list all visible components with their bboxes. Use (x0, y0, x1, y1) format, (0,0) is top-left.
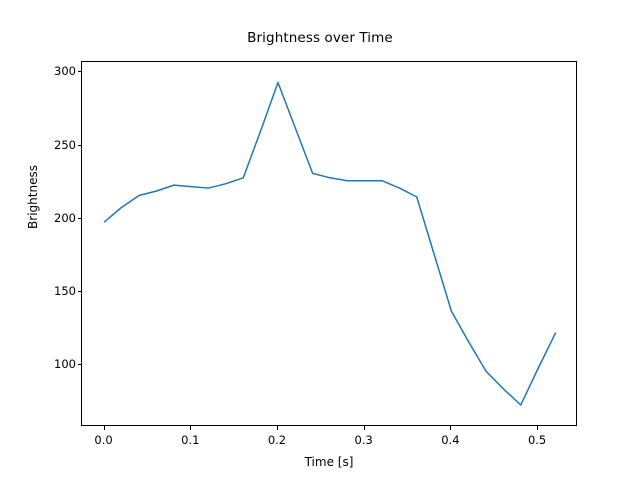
y-tick-mark (78, 145, 82, 146)
plot-axes (81, 61, 577, 426)
y-tick-label: 200 (36, 211, 76, 225)
x-tick-label: 0.5 (528, 433, 546, 447)
line-chart-svg (82, 62, 578, 427)
x-axis-label: Time [s] (81, 455, 577, 469)
x-tick-label: 0.1 (181, 433, 199, 447)
x-tick-mark (104, 426, 105, 430)
x-tick-label: 0.4 (441, 433, 459, 447)
y-axis-label: Brightness (26, 137, 40, 257)
x-tick-label: 0.3 (355, 433, 373, 447)
data-series-line (105, 83, 556, 405)
y-tick-label: 250 (36, 138, 76, 152)
figure-canvas: Brightness over Time 100150200250300 0.0… (0, 0, 640, 480)
y-tick-mark (78, 291, 82, 292)
x-tick-mark (364, 426, 365, 430)
x-tick-mark (450, 426, 451, 430)
y-tick-label: 300 (36, 64, 76, 78)
page-title: Brightness over Time (0, 30, 640, 46)
x-tick-mark (537, 426, 538, 430)
x-tick-mark (277, 426, 278, 430)
x-tick-mark (190, 426, 191, 430)
y-tick-label: 150 (36, 284, 76, 298)
x-tick-label: 0.2 (268, 433, 286, 447)
y-tick-mark (78, 71, 82, 72)
y-tick-mark (78, 364, 82, 365)
x-tick-label: 0.0 (94, 433, 112, 447)
y-tick-mark (78, 218, 82, 219)
y-tick-label: 100 (36, 357, 76, 371)
